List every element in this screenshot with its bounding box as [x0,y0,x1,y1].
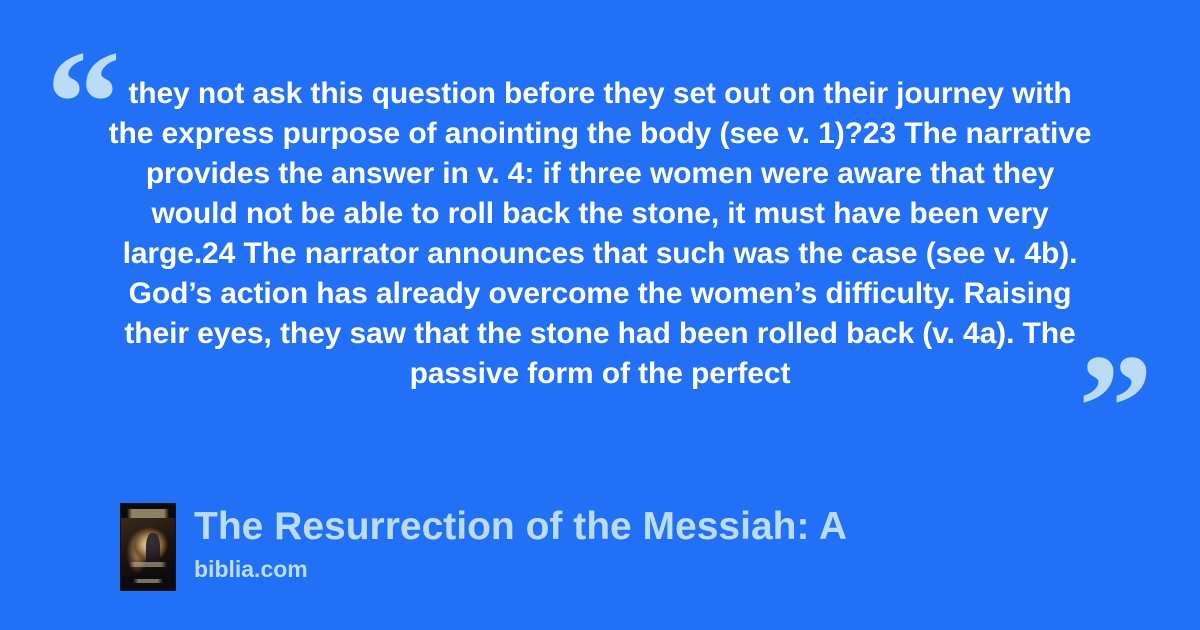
footer: The Resurrection of the Messiah: A bibli… [120,503,847,591]
work-title: The Resurrection of the Messiah: A [194,504,847,550]
book-cover-thumbnail [120,503,176,591]
quote-area: “ they not ask this question before they… [0,0,1200,455]
quote-card: “ they not ask this question before they… [0,0,1200,630]
book-cover-artwork [121,518,175,576]
book-cover-author-band [133,579,163,583]
quote-text: they not ask this question before they s… [108,74,1092,394]
footer-meta: The Resurrection of the Messiah: A bibli… [194,503,847,583]
site-name: biblia.com [194,555,847,583]
closing-quote-icon: ” [1078,332,1153,482]
book-cover-subtitle-band [129,562,167,567]
